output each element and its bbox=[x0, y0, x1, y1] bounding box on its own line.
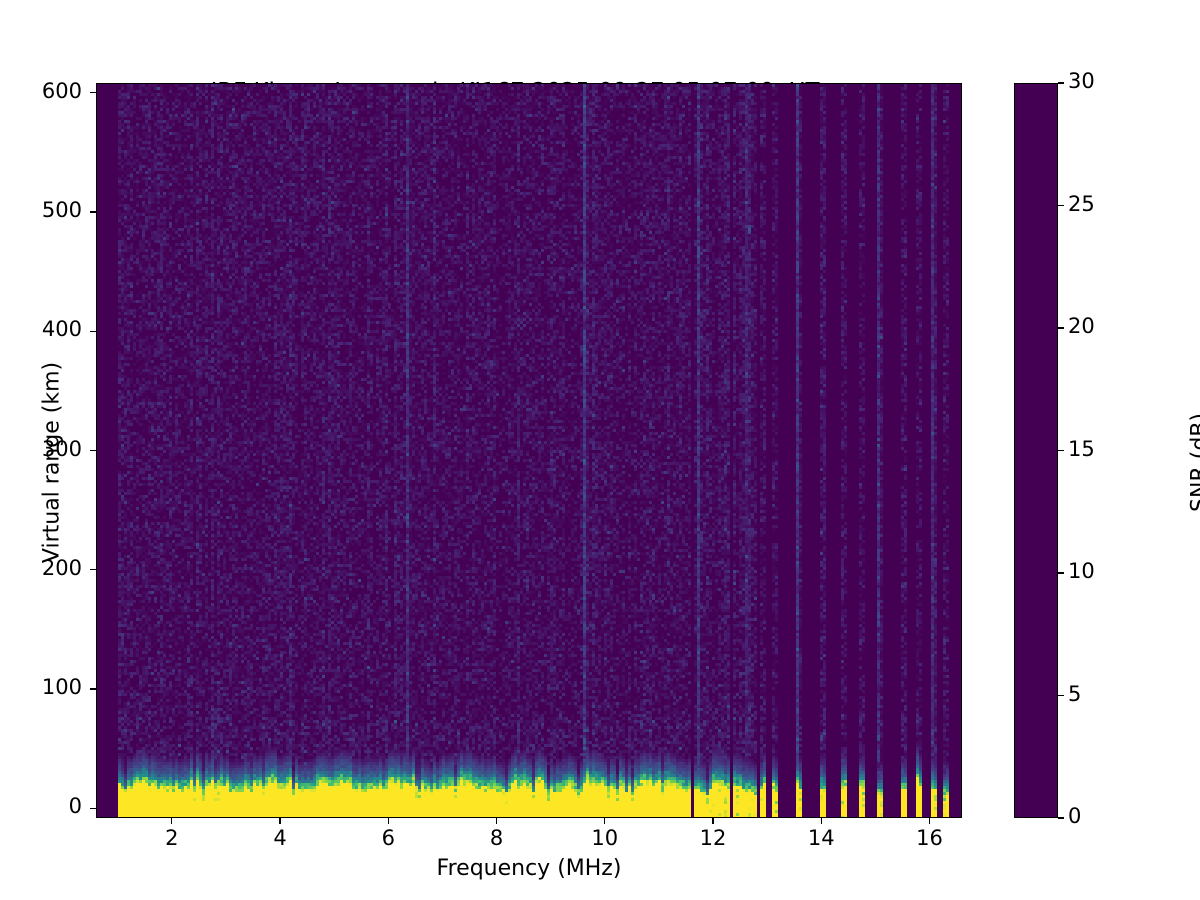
y-tick-label: 500 bbox=[10, 198, 82, 222]
x-tick-label: 6 bbox=[348, 826, 428, 850]
y-tick-label: 100 bbox=[10, 675, 82, 699]
x-tick-mark bbox=[712, 818, 713, 824]
x-tick-label: 14 bbox=[781, 826, 861, 850]
colorbar-tick-label: 0 bbox=[1068, 804, 1138, 828]
ionogram-heatmap bbox=[97, 84, 962, 818]
colorbar-gradient bbox=[1015, 84, 1057, 817]
x-tick-label: 8 bbox=[457, 826, 537, 850]
colorbar-tick-mark bbox=[1058, 572, 1064, 573]
colorbar-tick-label: 5 bbox=[1068, 682, 1138, 706]
x-tick-mark bbox=[171, 818, 172, 824]
y-tick-mark bbox=[90, 450, 96, 451]
colorbar-tick-label: 15 bbox=[1068, 437, 1138, 461]
colorbar-tick-mark bbox=[1058, 205, 1064, 206]
colorbar-tick-mark bbox=[1058, 695, 1064, 696]
y-axis-label: Virtual range (km) bbox=[40, 263, 65, 663]
colorbar-tick-label: 25 bbox=[1068, 192, 1138, 216]
x-tick-label: 2 bbox=[132, 826, 212, 850]
x-tick-mark bbox=[279, 818, 280, 824]
ionogram-figure: IRF Kiruna Ionosonde KI167 2025-09-27 05… bbox=[0, 0, 1200, 900]
y-tick-mark bbox=[90, 688, 96, 689]
y-tick-mark bbox=[90, 211, 96, 212]
x-tick-label: 12 bbox=[673, 826, 753, 850]
colorbar-tick-label: 20 bbox=[1068, 314, 1138, 338]
colorbar-tick-label: 10 bbox=[1068, 559, 1138, 583]
colorbar bbox=[1014, 83, 1058, 818]
y-tick-mark bbox=[90, 331, 96, 332]
colorbar-tick-mark bbox=[1058, 327, 1064, 328]
x-axis-label: Frequency (MHz) bbox=[96, 856, 962, 881]
colorbar-label: SNR (dB) bbox=[1188, 263, 1200, 663]
colorbar-tick-label: 30 bbox=[1068, 69, 1138, 93]
colorbar-tick-mark bbox=[1058, 450, 1064, 451]
x-tick-label: 16 bbox=[890, 826, 970, 850]
y-tick-mark bbox=[90, 808, 96, 809]
x-tick-label: 4 bbox=[240, 826, 320, 850]
x-tick-label: 10 bbox=[565, 826, 645, 850]
y-tick-label: 600 bbox=[10, 79, 82, 103]
x-tick-mark bbox=[821, 818, 822, 824]
x-tick-mark bbox=[929, 818, 930, 824]
ionogram-axes bbox=[96, 83, 962, 818]
y-tick-mark bbox=[90, 569, 96, 570]
y-tick-label: 0 bbox=[10, 794, 82, 818]
x-tick-mark bbox=[604, 818, 605, 824]
x-tick-mark bbox=[496, 818, 497, 824]
colorbar-tick-mark bbox=[1058, 817, 1064, 818]
colorbar-tick-mark bbox=[1058, 82, 1064, 83]
y-tick-mark bbox=[90, 92, 96, 93]
x-tick-mark bbox=[388, 818, 389, 824]
